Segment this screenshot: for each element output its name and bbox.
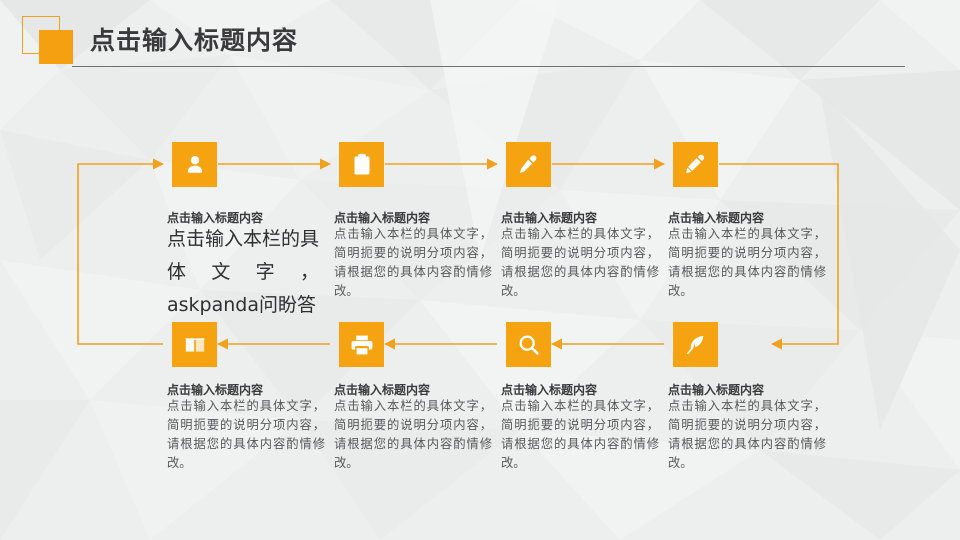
pencil-icon-glyph bbox=[684, 153, 708, 177]
node-title: 点击输入标题内容 bbox=[501, 209, 663, 226]
clipboard-icon[interactable] bbox=[339, 142, 384, 187]
arrow-wrap-left bbox=[78, 164, 163, 344]
clipboard-icon-glyph bbox=[351, 153, 373, 177]
node-title: 点击输入标题内容 bbox=[334, 209, 496, 226]
node-title: 点击输入标题内容 bbox=[334, 381, 496, 398]
flashlight-icon-glyph bbox=[517, 153, 541, 177]
node-body: 点击输入本栏的具体文字，简明扼要的说明分项内容，请根据您的具体内容酌情修改。 bbox=[501, 397, 659, 473]
node-body: 点击输入本栏的具体文字，简明扼要的说明分项内容，请根据您的具体内容酌情修改。 bbox=[668, 225, 826, 301]
node-body: 点击输入本栏的具体文字，简明扼要的说明分项内容，请根据您的具体内容酌情修改。 bbox=[334, 397, 492, 473]
node-title: 点击输入标题内容 bbox=[501, 381, 663, 398]
flashlight-icon[interactable] bbox=[506, 142, 551, 187]
node-title: 点击输入标题内容 bbox=[167, 381, 329, 398]
node-title: 点击输入标题内容 bbox=[668, 209, 830, 226]
search-icon-glyph bbox=[517, 333, 541, 357]
node-body: 点击输入本栏的具体文字，简明扼要的说明分项内容，请根据您的具体内容酌情修改。 bbox=[334, 225, 492, 301]
node-body: 点击输入本栏的具体文字，askpanda问盼答 bbox=[167, 223, 319, 322]
node-title: 点击输入标题内容 bbox=[668, 381, 830, 398]
node-body: 点击输入本栏的具体文字，简明扼要的说明分项内容，请根据您的具体内容酌情修改。 bbox=[501, 225, 659, 301]
book-icon[interactable] bbox=[172, 322, 217, 367]
printer-icon-glyph bbox=[350, 333, 374, 357]
search-icon[interactable] bbox=[506, 322, 551, 367]
user-icon[interactable] bbox=[172, 142, 217, 187]
pencil-icon[interactable] bbox=[673, 142, 718, 187]
feather-icon[interactable] bbox=[673, 322, 718, 367]
node-body: 点击输入本栏的具体文字，简明扼要的说明分项内容，请根据您的具体内容酌情修改。 bbox=[668, 397, 826, 473]
node-body: 点击输入本栏的具体文字，简明扼要的说明分项内容，请根据您的具体内容酌情修改。 bbox=[167, 397, 325, 473]
slide-canvas: 点击输入标题内容 bbox=[0, 0, 960, 540]
book-icon-glyph bbox=[183, 333, 207, 357]
printer-icon[interactable] bbox=[339, 322, 384, 367]
user-icon-glyph bbox=[183, 153, 207, 177]
feather-icon-glyph bbox=[684, 333, 708, 357]
